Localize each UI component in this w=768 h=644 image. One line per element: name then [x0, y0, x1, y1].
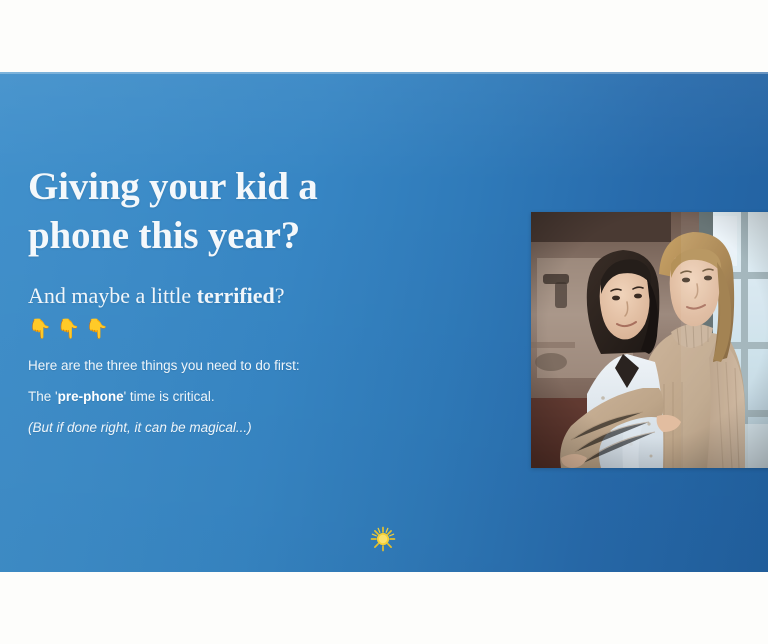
mother-and-daughter-photo: [531, 212, 768, 468]
page-title: Giving your kid a phone this year?: [28, 162, 458, 260]
copy-column: Giving your kid a phone this year? And m…: [28, 162, 458, 436]
body-line-2-emphasis: pre-phone: [58, 389, 124, 404]
subheading-prefix: And maybe a little: [28, 283, 197, 308]
body-line-2: The 'pre-phone' time is critical.: [28, 374, 458, 405]
body-line-1: Here are the three things you need to do…: [28, 343, 458, 374]
backhand-index-pointing-down-icon: 👇: [57, 316, 86, 342]
subheading-emphasis: terrified: [197, 283, 275, 308]
backhand-index-pointing-down-icon: 👇: [28, 316, 57, 342]
slide-canvas: Giving your kid a phone this year? And m…: [0, 72, 768, 572]
subheading-suffix: ?: [275, 283, 285, 308]
headline-line-1: Giving your kid a: [28, 165, 318, 208]
body-line-3: (But if done right, it can be magical...…: [28, 405, 458, 436]
sun-icon: [368, 524, 398, 554]
backhand-index-pointing-down-icon: 👇: [85, 316, 114, 342]
body-line-2-suffix: ' time is critical.: [124, 389, 215, 404]
slide-page: Giving your kid a phone this year? And m…: [0, 0, 768, 644]
body-line-2-prefix: The ': [28, 389, 58, 404]
pointing-down-emoji-row: 👇👇👇: [28, 316, 458, 343]
headline-line-2: phone this year?: [28, 211, 458, 260]
slide-top-hairline: [0, 72, 768, 74]
subheading: And maybe a little terrified?: [28, 282, 458, 310]
